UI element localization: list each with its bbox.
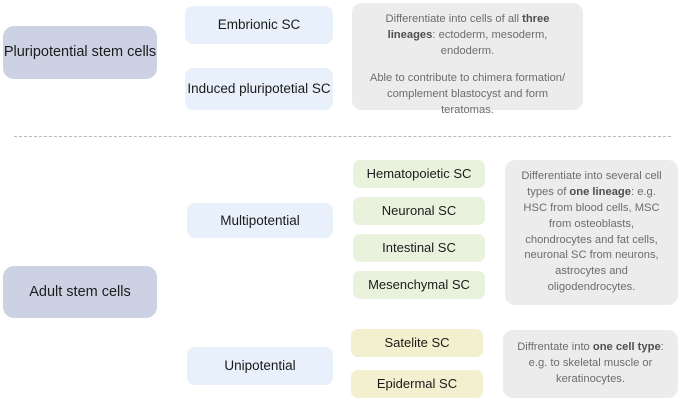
category-label-adult-stem-cells: Adult stem cells: [29, 283, 131, 302]
type-label-induced-pluripotetial-sc: Induced pluripotetial SC: [187, 80, 330, 97]
type-label-neuronal-sc: Neuronal SC: [382, 203, 456, 220]
type-box-mesenchymal-sc: Mesenchymal SC: [353, 271, 485, 299]
description-box-multipotential: Differentiate into several cell types of…: [505, 160, 678, 305]
description-paragraph-multipotential: Differentiate into several cell types of…: [516, 169, 667, 296]
type-label-satelite-sc: Satelite SC: [384, 335, 449, 352]
type-box-satelite-sc: Satelite SC: [351, 329, 483, 357]
type-box-hematopoietic-sc: Hematopoietic SC: [353, 160, 485, 188]
category-box-adult-stem-cells: Adult stem cells: [3, 266, 157, 318]
type-box-intestinal-sc: Intestinal SC: [353, 234, 485, 262]
category-box-pluripotential: Pluripotential stem cells: [3, 26, 157, 79]
type-label-hematopoietic-sc: Hematopoietic SC: [367, 166, 472, 183]
potency-box-multipotential: Multipotential: [187, 203, 333, 238]
description-text-post: : ectoderm, mesoderm, endoderm.: [432, 29, 547, 57]
type-box-epidermal-sc: Epidermal SC: [351, 370, 483, 398]
stem-cell-hierarchy-diagram: Pluripotential stem cells Embrionic SC I…: [0, 0, 685, 402]
potency-label-multipotential: Multipotential: [220, 212, 300, 229]
description-text-pre: Differentiate into cells of all: [386, 13, 523, 25]
type-label-epidermal-sc: Epidermal SC: [377, 376, 457, 393]
type-label-intestinal-sc: Intestinal SC: [382, 240, 456, 257]
description-text-pre: Diffrentate into: [517, 341, 593, 353]
potency-label-unipotential: Unipotential: [224, 357, 295, 374]
description-text-post: : e.g. HSC from blood cells, MSC from os…: [523, 186, 659, 293]
description-box-pluripotential: Differentiate into cells of all three li…: [352, 3, 583, 110]
potency-box-unipotential: Unipotential: [187, 347, 333, 385]
type-box-embrionic-sc: Embrionic SC: [185, 6, 333, 44]
description-paragraph-unipotential: Diffrentate into one cell type: e.g. to …: [514, 340, 667, 388]
description-text-bold: one cell type: [593, 341, 661, 353]
type-label-embrionic-sc: Embrionic SC: [218, 16, 301, 33]
type-label-mesenchymal-sc: Mesenchymal SC: [368, 277, 470, 294]
section-divider: [14, 136, 671, 137]
description-paragraph-chimera: Able to contribute to chimera formation/…: [363, 71, 572, 119]
category-label-pluripotential: Pluripotential stem cells: [4, 43, 156, 62]
type-box-induced-pluripotetial-sc: Induced pluripotetial SC: [185, 68, 333, 110]
type-box-neuronal-sc: Neuronal SC: [353, 197, 485, 225]
description-box-unipotential: Diffrentate into one cell type: e.g. to …: [503, 330, 678, 398]
description-text-bold: one lineage: [569, 186, 631, 198]
description-paragraph-lineages: Differentiate into cells of all three li…: [363, 12, 572, 60]
